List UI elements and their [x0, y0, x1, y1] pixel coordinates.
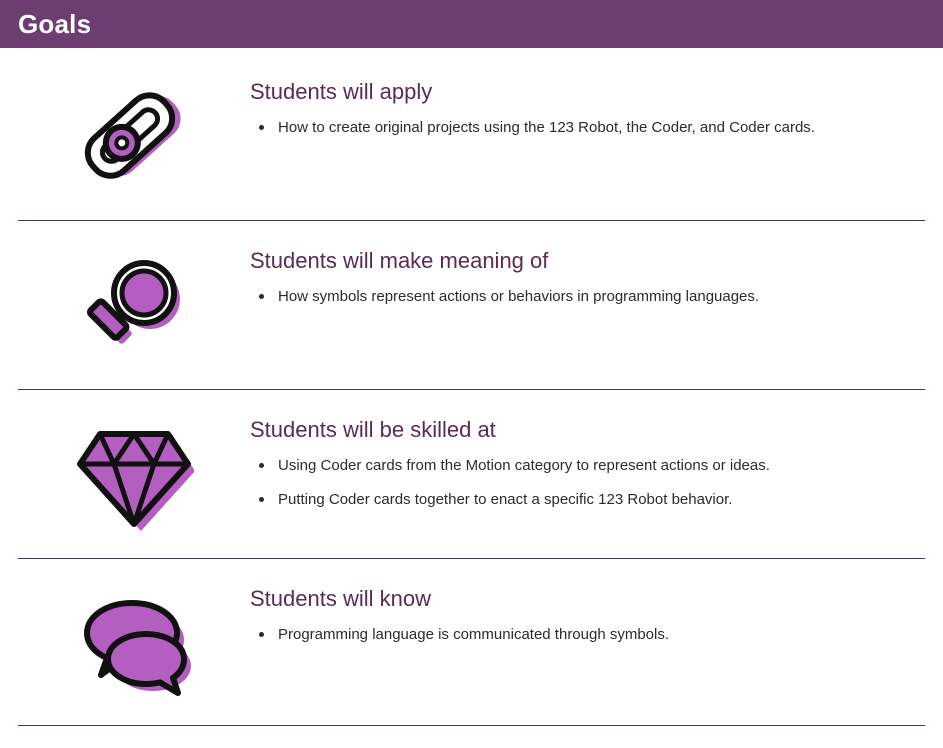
goal-bullet-list: Using Coder cards from the Motion catego… [250, 454, 925, 512]
page-header-bar: Goals [0, 0, 943, 48]
section-divider-bottom [18, 725, 925, 726]
goals-list: Students will apply How to create origin… [0, 48, 943, 726]
goal-icon-cell [18, 583, 250, 705]
goal-body: Students will apply How to create origin… [250, 76, 925, 139]
goal-bullet-item: Programming language is communicated thr… [250, 623, 850, 647]
goal-bullet-list: How to create original projects using th… [250, 116, 925, 140]
goal-body: Students will be skilled at Using Coder … [250, 414, 925, 512]
goal-bullet-item: How to create original projects using th… [250, 116, 850, 140]
goal-section-skilled-at: Students will be skilled at Using Coder … [0, 414, 943, 536]
speech-bubbles-icon [74, 589, 194, 705]
goal-section-know: Students will know Programming language … [0, 583, 943, 705]
goal-heading: Students will make meaning of [250, 247, 925, 275]
goal-heading: Students will apply [250, 78, 925, 106]
magnifying-glass-icon [74, 251, 194, 367]
diamond-gem-icon [74, 420, 194, 536]
goal-body: Students will make meaning of How symbol… [250, 245, 925, 308]
section-divider [18, 220, 925, 221]
goal-section-apply: Students will apply How to create origin… [0, 76, 943, 198]
goal-heading: Students will know [250, 585, 925, 613]
goal-bullet-list: How symbols represent actions or behavio… [250, 285, 925, 309]
page-title: Goals [18, 11, 91, 37]
goal-bullet-item: Using Coder cards from the Motion catego… [250, 454, 850, 478]
goal-icon-cell [18, 245, 250, 367]
goal-bullet-item: How symbols represent actions or behavio… [250, 285, 850, 309]
goal-heading: Students will be skilled at [250, 416, 925, 444]
goal-icon-cell [18, 414, 250, 536]
goal-section-make-meaning-of: Students will make meaning of How symbol… [0, 245, 943, 367]
goal-bullet-item: Putting Coder cards together to enact a … [250, 488, 850, 512]
goal-body: Students will know Programming language … [250, 583, 925, 646]
goal-bullet-list: Programming language is communicated thr… [250, 623, 925, 647]
section-divider [18, 389, 925, 390]
goal-icon-cell [18, 76, 250, 198]
section-divider [18, 558, 925, 559]
chain-link-icon [74, 82, 194, 198]
